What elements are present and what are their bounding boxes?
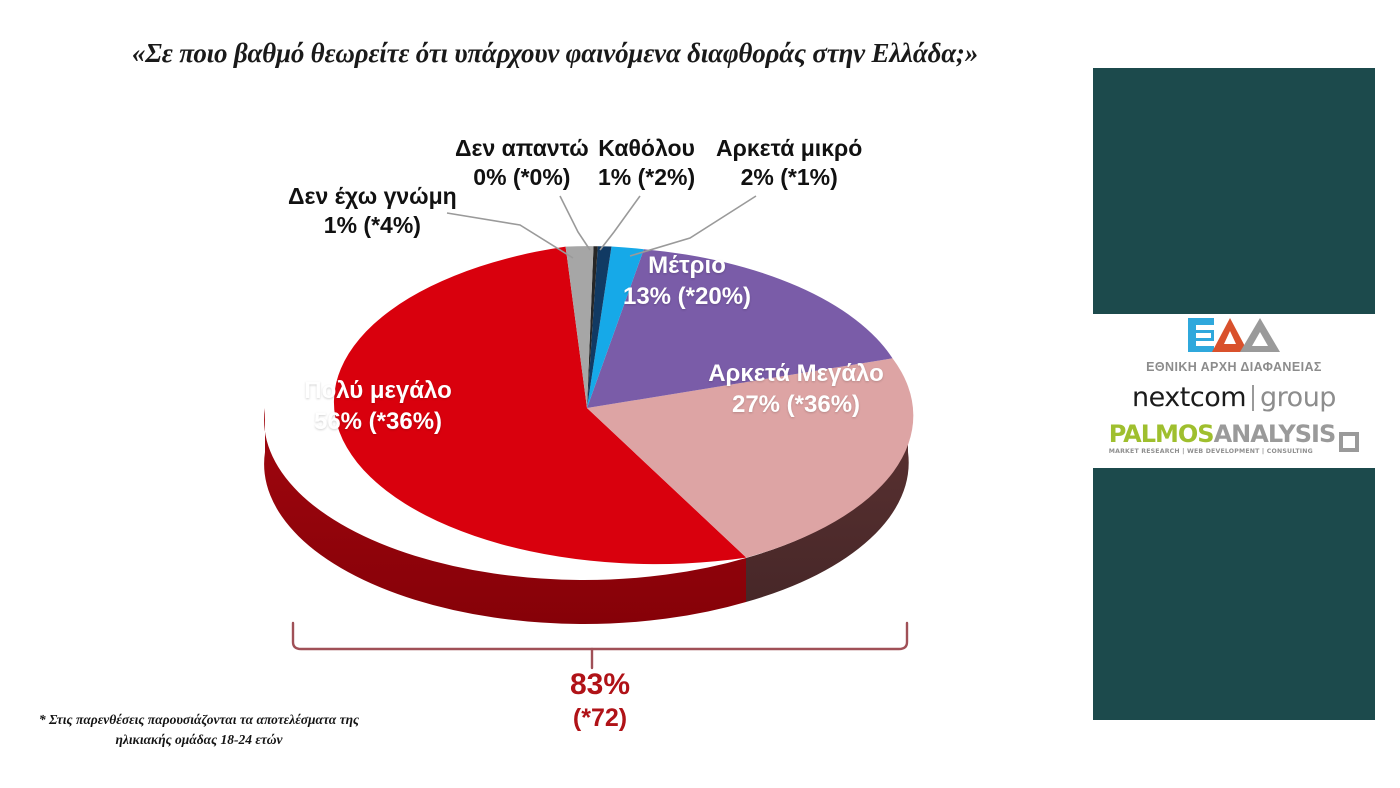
callout-no-opinion-value: 1% (*4%) [288,211,457,240]
slice-label-quite-big: Αρκετά Μεγάλο 27% (*36%) [690,358,902,420]
leader-line-no-answer [560,196,590,250]
slice-label-very-big-name: Πολύ μεγάλο [278,375,478,406]
nextcom-logo: nextcom group [1132,382,1336,413]
slice-label-moderate-name: Μέτριο [612,250,762,281]
slice-label-quite-big-name: Αρκετά Μεγάλο [690,358,902,389]
palmos-logo-secondary: ANALYSIS [1214,420,1336,448]
slice-label-very-big-value: 56% (*36%) [278,406,478,437]
slice-label-moderate: Μέτριο 13% (*20%) [612,250,762,312]
callout-quite-small: Αρκετά μικρό 2% (*1%) [716,134,862,193]
callout-not-at-all-value: 1% (*2%) [598,163,695,192]
slice-label-quite-big-value: 27% (*36%) [690,389,902,420]
callout-no-answer-value: 0% (*0%) [455,163,589,192]
logo-block: ΕΘΝΙΚΗ ΑΡΧΗ ΔΙΑΦΑΝΕΙΑΣ nextcom group PAL… [1093,314,1375,464]
total-bracket [293,623,907,668]
callout-no-answer-label: Δεν απαντώ [455,134,589,163]
bracket-total-value: 83% [520,668,680,703]
leader-lines [447,196,756,258]
callout-quite-small-value: 2% (*1%) [716,163,862,192]
slide-canvas: «Σε ποιο βαθμό θεωρείτε ότι υπάρχουν φαι… [0,0,1400,788]
decorative-panel-top [1093,68,1375,314]
callout-no-opinion-label: Δεν έχω γνώμη [288,182,457,211]
footnote: * Στις παρενθέσεις παρουσιάζονται τα απο… [24,710,374,749]
nextcom-logo-primary: nextcom [1132,382,1246,413]
leader-line-not-at-all [600,196,640,250]
bracket-total: 83% (*72) [520,668,680,733]
nextcom-logo-divider [1252,385,1254,411]
callout-no-opinion: Δεν έχω γνώμη 1% (*4%) [288,182,457,241]
slice-label-very-big: Πολύ μεγάλο 56% (*36%) [278,375,478,437]
callout-not-at-all-label: Καθόλου [598,134,695,163]
ead-logo-caption: ΕΘΝΙΚΗ ΑΡΧΗ ΔΙΑΦΑΝΕΙΑΣ [1146,360,1322,374]
palmos-logo-primary: PALMOS [1109,420,1214,448]
palmos-logo: PALMOSANALYSIS MARKET RESEARCH | WEB DEV… [1109,422,1360,455]
nextcom-logo-secondary: group [1260,382,1336,413]
bracket-total-sub: (*72) [520,703,680,733]
palmos-logo-square-icon [1339,432,1359,452]
callout-quite-small-label: Αρκετά μικρό [716,134,862,163]
callout-no-answer: Δεν απαντώ 0% (*0%) [455,134,589,193]
leader-line-quite-small [630,196,756,256]
callout-not-at-all: Καθόλου 1% (*2%) [598,134,695,193]
ead-logo-icon [1186,314,1282,356]
palmos-logo-tagline: MARKET RESEARCH | WEB DEVELOPMENT | CONS… [1109,448,1313,455]
slice-label-moderate-value: 13% (*20%) [612,281,762,312]
decorative-panel-bottom [1093,468,1375,720]
